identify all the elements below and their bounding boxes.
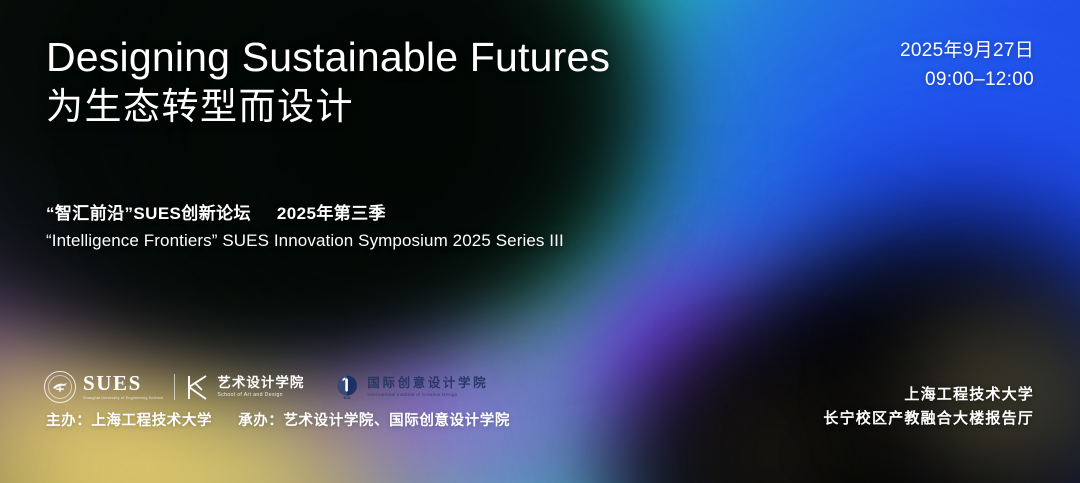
creative-design-english: International Institute of Creative Desi…	[367, 391, 488, 399]
series-block: “智汇前沿”SUES创新论坛2025年第三季 “Intelligence Fro…	[46, 200, 564, 254]
art-design-wordmark-block: 艺术设计学院 School of Art and Design	[217, 375, 304, 399]
series-english-line: “Intelligence Frontiers” SUES Innovation…	[46, 227, 564, 254]
event-datetime: 2025年9月27日 09:00–12:00	[900, 36, 1034, 94]
university-wordmark-subtitle: Shanghai University of Engineering Scien…	[83, 395, 163, 401]
svg-text:IICD: IICD	[344, 396, 351, 400]
coorganizer-label: 承办：	[238, 413, 283, 429]
art-design-chinese: 艺术设计学院	[217, 375, 304, 390]
creative-design-chinese: 国际创意设计学院	[367, 376, 488, 390]
creative-design-wordmark-block: 国际创意设计学院 International Institute of Crea…	[367, 376, 488, 399]
logo-divider	[174, 374, 175, 400]
series-chinese-name: “智汇前沿”SUES创新论坛	[46, 204, 251, 223]
art-design-english: School of Art and Design	[217, 391, 304, 399]
logo-art-design: 艺术设计学院 School of Art and Design	[186, 374, 304, 401]
host-label: 主办：	[46, 413, 91, 429]
university-seal-icon	[44, 371, 76, 403]
event-time: 09:00–12:00	[900, 65, 1034, 94]
university-wordmark-block: SUES Shanghai University of Engineering …	[83, 373, 163, 401]
title-block: Designing Sustainable Futures 为生态转型而设计	[46, 31, 610, 131]
event-date: 2025年9月27日	[900, 36, 1034, 65]
series-chinese-line: “智汇前沿”SUES创新论坛2025年第三季	[46, 200, 564, 227]
event-poster: Designing Sustainable Futures 为生态转型而设计 2…	[0, 0, 1080, 483]
series-chinese-season: 2025年第三季	[277, 204, 386, 223]
venue-line-2: 长宁校区产教融合大楼报告厅	[823, 407, 1034, 431]
organizers-line: 主办：上海工程技术大学承办：艺术设计学院、国际创意设计学院	[46, 410, 510, 432]
university-wordmark: SUES	[83, 373, 163, 394]
coorganizer-name: 艺术设计学院、国际创意设计学院	[283, 413, 510, 429]
title-chinese: 为生态转型而设计	[46, 83, 610, 131]
logo-creative-design: IICD 国际创意设计学院 International Institute of…	[334, 374, 488, 400]
logo-university: SUES Shanghai University of Engineering …	[44, 371, 163, 403]
venue-block: 上海工程技术大学 长宁校区产教融合大楼报告厅	[823, 383, 1034, 431]
logo-row: SUES Shanghai University of Engineering …	[44, 369, 488, 405]
host-name: 上海工程技术大学	[91, 413, 212, 429]
poster-content: Designing Sustainable Futures 为生态转型而设计 2…	[0, 0, 1080, 483]
art-design-mark-icon	[186, 374, 210, 401]
creative-design-mark-icon: IICD	[334, 374, 360, 400]
venue-line-1: 上海工程技术大学	[823, 383, 1034, 407]
title-english: Designing Sustainable Futures	[46, 31, 610, 83]
